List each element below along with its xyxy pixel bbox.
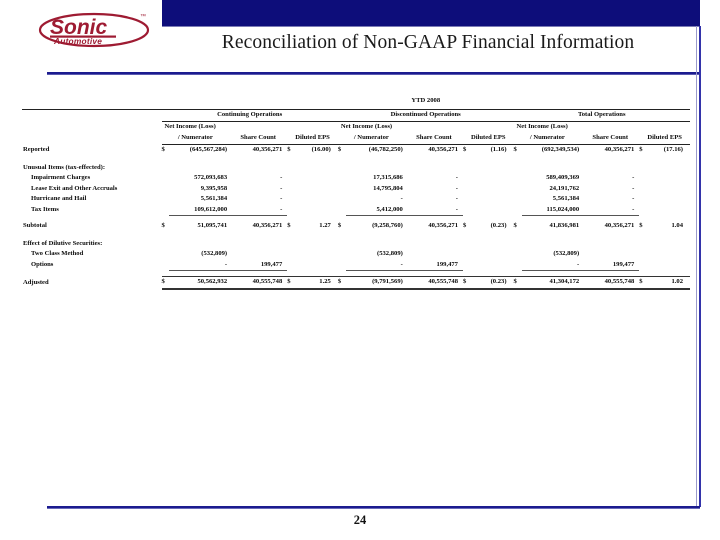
subheader-share-d: Share Count	[405, 133, 463, 145]
cell-currency-continuing	[162, 184, 170, 195]
subheader-eps-t: Diluted EPS	[639, 133, 690, 145]
header-banner	[162, 0, 700, 26]
subheader-numerator-t1: Net Income (Loss)	[514, 122, 640, 133]
cell-share-count-continuing: 40,356,271	[229, 221, 287, 232]
cell-eps-currency-discontinued: $	[463, 145, 471, 156]
row-label-1: Reported	[22, 145, 162, 156]
cell-share-count-total: 40,356,271	[581, 145, 639, 156]
row-spacer	[22, 156, 690, 163]
cell-eps-continuing	[295, 194, 337, 205]
cell-eps-continuing	[295, 205, 337, 216]
table-row: Hurricane and Hail5,561,384---5,561,384-	[22, 194, 690, 205]
cell-numerator-total: 24,191,762	[522, 184, 582, 195]
cell-eps-discontinued: (1.16)	[471, 145, 513, 156]
cell-currency-discontinued	[338, 184, 346, 195]
cell-eps-currency-continuing	[287, 249, 295, 260]
cell-share-count-discontinued: 40,356,271	[405, 221, 463, 232]
cell-share-count-discontinued: 199,477	[405, 260, 463, 271]
page-title: Reconciliation of Non-GAAP Financial Inf…	[168, 32, 688, 54]
cell-currency-discontinued	[338, 249, 346, 260]
cell-currency-discontinued: $	[338, 221, 346, 232]
cell-share-count-total: 40,356,271	[581, 221, 639, 232]
cell-eps-currency-discontinued	[463, 249, 471, 260]
cell-share-count-continuing	[229, 249, 287, 260]
row-label-8: Effect of Dilutive Securities:	[22, 239, 162, 250]
subheader-eps-c: Diluted EPS	[287, 133, 338, 145]
period-header-row: YTD 2008	[22, 96, 690, 108]
subheader-row-1: Net Income (Loss) Net Income (Loss) Net …	[22, 122, 690, 133]
cell-currency-discontinued	[338, 173, 346, 184]
cell-eps-total	[647, 184, 690, 195]
cell-eps-discontinued	[471, 194, 513, 205]
cell-currency-continuing	[162, 249, 170, 260]
subheader-numerator-d1: Net Income (Loss)	[338, 122, 463, 133]
cell-currency-total	[514, 260, 522, 271]
subheader-numerator-d2: / Numerator	[338, 133, 405, 145]
cell-eps-currency-discontinued: $	[463, 221, 471, 232]
cell-eps-currency-discontinued	[463, 260, 471, 271]
cell-eps-discontinued	[471, 260, 513, 271]
cell-currency-discontinued	[338, 194, 346, 205]
cell-share-count-discontinued: -	[405, 194, 463, 205]
cell-share-count-continuing: -	[229, 194, 287, 205]
cell-eps-currency-discontinued	[463, 184, 471, 195]
cell-eps-continuing	[295, 184, 337, 195]
cell-eps-discontinued	[471, 205, 513, 216]
cell-eps-total: (17.16)	[647, 145, 690, 156]
cell-currency-discontinued	[338, 260, 346, 271]
group-header-continuing: Continuing Operations	[162, 109, 338, 122]
cell-currency-total	[514, 205, 522, 216]
cell-eps-continuing: 1.27	[295, 221, 337, 232]
row-label-4: Lease Exit and Other Accruals	[22, 184, 162, 195]
slide-canvas: Sonic Automotive ™ Reconciliation of Non…	[0, 0, 720, 540]
table-body: Reported$(645,567,284)40,356,271$(16.00)…	[22, 145, 690, 289]
cell-share-count-total: -	[581, 173, 639, 184]
cell-eps-total	[647, 249, 690, 260]
cell-numerator-total: 41,304,172	[522, 277, 582, 289]
cell-currency-continuing	[162, 205, 170, 216]
cell-share-count-discontinued: 40,356,271	[405, 145, 463, 156]
cell-eps-currency-discontinued	[463, 205, 471, 216]
table-row: Effect of Dilutive Securities:	[22, 239, 690, 250]
cell-currency-continuing: $	[162, 145, 170, 156]
cell-eps-currency-continuing: $	[287, 277, 295, 289]
cell-numerator-continuing: -	[169, 260, 229, 271]
cell-eps-currency-total	[639, 260, 647, 271]
cell-share-count-total: -	[581, 205, 639, 216]
cell-eps-currency-continuing	[287, 260, 295, 271]
cell-numerator-continuing: (645,567,284)	[169, 145, 229, 156]
cell-eps-currency-discontinued	[463, 173, 471, 184]
cell-eps-discontinued: (0.23)	[471, 277, 513, 289]
page-number: 24	[0, 513, 720, 528]
cell-eps-currency-total	[639, 184, 647, 195]
subheader-share-t: Share Count	[581, 133, 639, 145]
cell-eps-currency-total: $	[639, 277, 647, 289]
cell-numerator-discontinued: (46,782,250)	[346, 145, 405, 156]
svg-text:Automotive: Automotive	[53, 36, 102, 46]
frame-right	[699, 26, 701, 507]
cell-share-count-discontinued: 40,555,748	[405, 277, 463, 289]
table-row: Adjusted$50,562,93240,555,748$1.25$(9,79…	[22, 277, 690, 289]
group-header-row: Continuing Operations Discontinued Opera…	[22, 109, 690, 122]
cell-eps-total: 1.04	[647, 221, 690, 232]
title-divider-shadow	[47, 74, 700, 75]
cell-share-count-discontinued: -	[405, 205, 463, 216]
svg-text:™: ™	[140, 13, 146, 20]
cell-eps-currency-discontinued: $	[463, 277, 471, 289]
row-empty	[162, 163, 691, 174]
cell-share-count-total: 40,555,748	[581, 277, 639, 289]
row-label-9: Two Class Method	[22, 249, 162, 260]
row-label-2: Unusual Items (tax-effected):	[22, 163, 162, 174]
cell-numerator-continuing: (532,809)	[169, 249, 229, 260]
cell-eps-discontinued	[471, 184, 513, 195]
cell-numerator-total: 115,024,000	[522, 205, 582, 216]
cell-numerator-total: 41,836,981	[522, 221, 582, 232]
row-spacer	[22, 232, 690, 239]
cell-share-count-total: -	[581, 184, 639, 195]
cell-share-count-continuing: 40,356,271	[229, 145, 287, 156]
cell-share-count-continuing: -	[229, 184, 287, 195]
cell-currency-continuing	[162, 260, 170, 271]
cell-currency-total	[514, 184, 522, 195]
subheader-numerator-t2: / Numerator	[514, 133, 582, 145]
subheader-numerator-c1: Net Income (Loss)	[162, 122, 288, 133]
table-row: Options-199,477-199,477-199,477	[22, 260, 690, 271]
cell-eps-currency-total: $	[639, 145, 647, 156]
cell-eps-continuing: (16.00)	[295, 145, 337, 156]
row-empty	[162, 239, 691, 250]
cell-currency-discontinued: $	[338, 277, 346, 289]
table-row: Subtotal$51,095,74140,356,271$1.27$(9,25…	[22, 221, 690, 232]
cell-eps-discontinued: (0.23)	[471, 221, 513, 232]
cell-eps-total: 1.02	[647, 277, 690, 289]
cell-numerator-discontinued: (9,258,760)	[346, 221, 405, 232]
cell-share-count-continuing: -	[229, 205, 287, 216]
cell-eps-currency-total	[639, 173, 647, 184]
row-label-7: Subtotal	[22, 221, 162, 232]
subheader-row-2: / Numerator Share Count Diluted EPS / Nu…	[22, 133, 690, 145]
row-label-11: Adjusted	[22, 277, 162, 289]
table-row: Reported$(645,567,284)40,356,271$(16.00)…	[22, 145, 690, 156]
cell-numerator-total: (532,809)	[522, 249, 582, 260]
frame-right-inner	[696, 26, 697, 507]
cell-share-count-total	[581, 249, 639, 260]
cell-eps-currency-total: $	[639, 221, 647, 232]
cell-numerator-discontinued: -	[346, 260, 405, 271]
cell-numerator-discontinued: (532,809)	[346, 249, 405, 260]
cell-eps-total	[647, 173, 690, 184]
table-row: Lease Exit and Other Accruals9,395,958-1…	[22, 184, 690, 195]
cell-numerator-total: -	[522, 260, 582, 271]
cell-eps-currency-continuing	[287, 194, 295, 205]
cell-eps-total	[647, 205, 690, 216]
cell-eps-total	[647, 260, 690, 271]
cell-eps-continuing	[295, 173, 337, 184]
cell-currency-total: $	[514, 277, 522, 289]
group-header-total: Total Operations	[514, 109, 690, 122]
cell-eps-discontinued	[471, 249, 513, 260]
cell-currency-continuing: $	[162, 221, 170, 232]
cell-numerator-total: 5,561,384	[522, 194, 582, 205]
cell-currency-continuing	[162, 194, 170, 205]
cell-currency-total	[514, 249, 522, 260]
period-header: YTD 2008	[162, 96, 691, 108]
cell-eps-currency-total	[639, 194, 647, 205]
subheader-share-c: Share Count	[229, 133, 287, 145]
cell-eps-currency-total	[639, 249, 647, 260]
cell-numerator-discontinued: (9,791,569)	[346, 277, 405, 289]
table-row: Impairment Charges572,093,683-17,315,686…	[22, 173, 690, 184]
cell-share-count-continuing: -	[229, 173, 287, 184]
cell-numerator-discontinued: -	[346, 194, 405, 205]
subheader-eps-d: Diluted EPS	[463, 133, 514, 145]
row-label-3: Impairment Charges	[22, 173, 162, 184]
cell-numerator-continuing: 50,562,932	[169, 277, 229, 289]
cell-numerator-total: (692,349,534)	[522, 145, 582, 156]
cell-eps-currency-continuing	[287, 205, 295, 216]
cell-currency-continuing: $	[162, 277, 170, 289]
row-label-10: Options	[22, 260, 162, 271]
cell-numerator-continuing: 572,093,683	[169, 173, 229, 184]
cell-eps-continuing	[295, 260, 337, 271]
footer-divider-shadow	[47, 508, 700, 509]
row-label-5: Hurricane and Hail	[22, 194, 162, 205]
cell-share-count-discontinued	[405, 249, 463, 260]
cell-currency-total: $	[514, 145, 522, 156]
cell-currency-total	[514, 194, 522, 205]
row-label-6: Tax Items	[22, 205, 162, 216]
header-banner-edge	[162, 26, 700, 27]
subheader-numerator-c2: / Numerator	[162, 133, 230, 145]
cell-share-count-continuing: 199,477	[229, 260, 287, 271]
cell-eps-currency-discontinued	[463, 194, 471, 205]
cell-eps-currency-continuing	[287, 173, 295, 184]
cell-share-count-discontinued: -	[405, 184, 463, 195]
cell-eps-currency-total	[639, 205, 647, 216]
cell-numerator-continuing: 51,095,741	[169, 221, 229, 232]
cell-eps-currency-continuing	[287, 184, 295, 195]
cell-share-count-total: -	[581, 194, 639, 205]
cell-currency-total: $	[514, 221, 522, 232]
cell-numerator-continuing: 109,612,000	[169, 205, 229, 216]
table-row: Unusual Items (tax-effected):	[22, 163, 690, 174]
cell-share-count-continuing: 40,555,748	[229, 277, 287, 289]
cell-numerator-continuing: 5,561,384	[169, 194, 229, 205]
cell-numerator-total: 589,409,369	[522, 173, 582, 184]
cell-eps-discontinued	[471, 173, 513, 184]
cell-currency-discontinued	[338, 205, 346, 216]
cell-numerator-discontinued: 17,315,686	[346, 173, 405, 184]
table-row: Two Class Method(532,809)(532,809)(532,8…	[22, 249, 690, 260]
cell-share-count-discontinued: -	[405, 173, 463, 184]
cell-eps-currency-continuing: $	[287, 221, 295, 232]
non-gaap-reconciliation-table: YTD 2008 Continuing Operations Discontin…	[22, 96, 690, 290]
cell-share-count-total: 199,477	[581, 260, 639, 271]
cell-eps-continuing	[295, 249, 337, 260]
cell-currency-total	[514, 173, 522, 184]
cell-eps-total	[647, 194, 690, 205]
cell-currency-discontinued: $	[338, 145, 346, 156]
cell-currency-continuing	[162, 173, 170, 184]
group-header-discontinued: Discontinued Operations	[338, 109, 514, 122]
sonic-automotive-logo: Sonic Automotive ™	[36, 8, 156, 52]
cell-numerator-discontinued: 14,795,804	[346, 184, 405, 195]
cell-numerator-discontinued: 5,412,000	[346, 205, 405, 216]
table-row: Tax Items109,612,000-5,412,000-115,024,0…	[22, 205, 690, 216]
cell-numerator-continuing: 9,395,958	[169, 184, 229, 195]
cell-eps-currency-continuing: $	[287, 145, 295, 156]
cell-eps-continuing: 1.25	[295, 277, 337, 289]
